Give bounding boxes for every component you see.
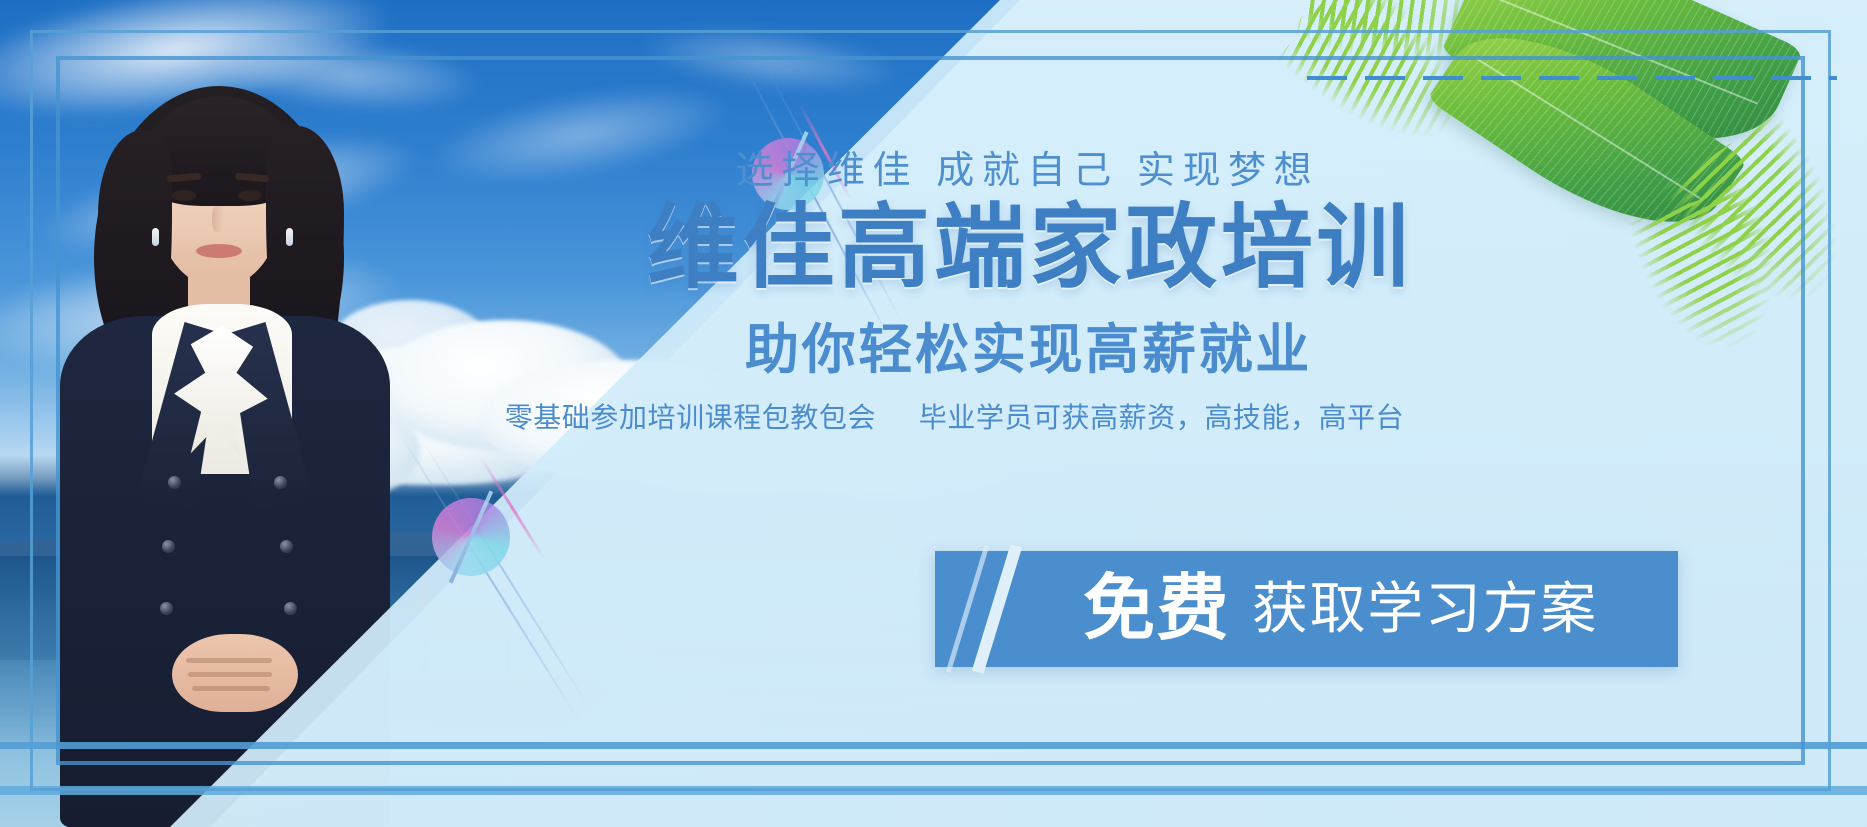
- subheadline: 助你轻松实现高薪就业: [0, 305, 1867, 384]
- banner-content: 选择维佳 成就自己 实现梦想 维佳高端家政培训 助你轻松实现高薪就业 零基础参加…: [0, 0, 1867, 827]
- cta-action-label: 获取学习方案: [1252, 581, 1598, 637]
- description-part-2: 毕业学员可获高薪资，高技能，高平台: [919, 402, 1405, 433]
- cta-highlight-label: 免费: [1083, 573, 1230, 645]
- description-part-1: 零基础参加培训课程包教包会: [425, 402, 876, 433]
- cta-button[interactable]: 免费 获取学习方案: [935, 551, 1678, 667]
- tagline-text: 选择维佳 成就自己 实现梦想: [506, 150, 1320, 192]
- subheadline-text: 助你轻松实现高薪就业: [515, 320, 1312, 380]
- headline-text: 维佳高端家政培训: [415, 197, 1412, 299]
- tagline: 选择维佳 成就自己 实现梦想: [0, 139, 1867, 194]
- page-title: 维佳高端家政培训: [0, 197, 1867, 300]
- description-line: 零基础参加培训课程包教包会 毕业学员可获高薪资，高技能，高平台: [0, 396, 1867, 436]
- promotional-banner: 选择维佳 成就自己 实现梦想 维佳高端家政培训 助你轻松实现高薪就业 零基础参加…: [0, 0, 1867, 827]
